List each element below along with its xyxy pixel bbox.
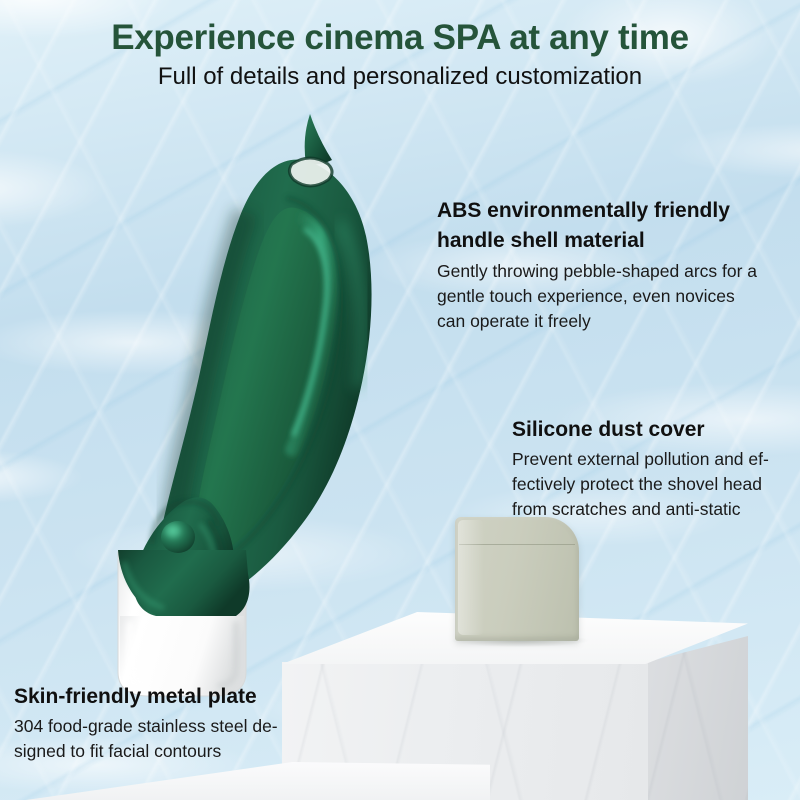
callout-title: Silicone dust cover [512,415,797,445]
callout-metal-plate: Skin-friendly metal plate 304 food-grade… [14,682,334,764]
page-subtitle: Full of details and personalized customi… [0,63,800,91]
callout-body: Prevent external pollution and ef- fecti… [512,447,797,522]
podium-right-face [647,636,748,800]
callout-body: 304 food-grade stainless steel de- signe… [14,714,334,764]
callout-silicone-dust-cover: Silicone dust cover Prevent external pol… [512,415,797,522]
callout-title: Skin-friendly metal plate [14,682,334,712]
callout-abs-material: ABS environmentally friendly handle shel… [437,196,787,333]
silicone-dust-cover [455,517,579,641]
callout-body: Gently throwing pebble-shaped arcs for a… [437,259,787,334]
dust-cover-highlight [458,520,484,635]
callout-title: ABS environmentally friendly handle shel… [437,196,787,257]
page-title: Experience cinema SPA at any time [0,18,800,58]
marble-lower-slab [0,762,490,800]
product-feature-poster: Experience cinema SPA at any time Full o… [0,0,800,800]
marble-vein-texture [647,636,748,800]
green-abs-handle [96,112,426,672]
lower-slab-top-face [0,762,490,800]
